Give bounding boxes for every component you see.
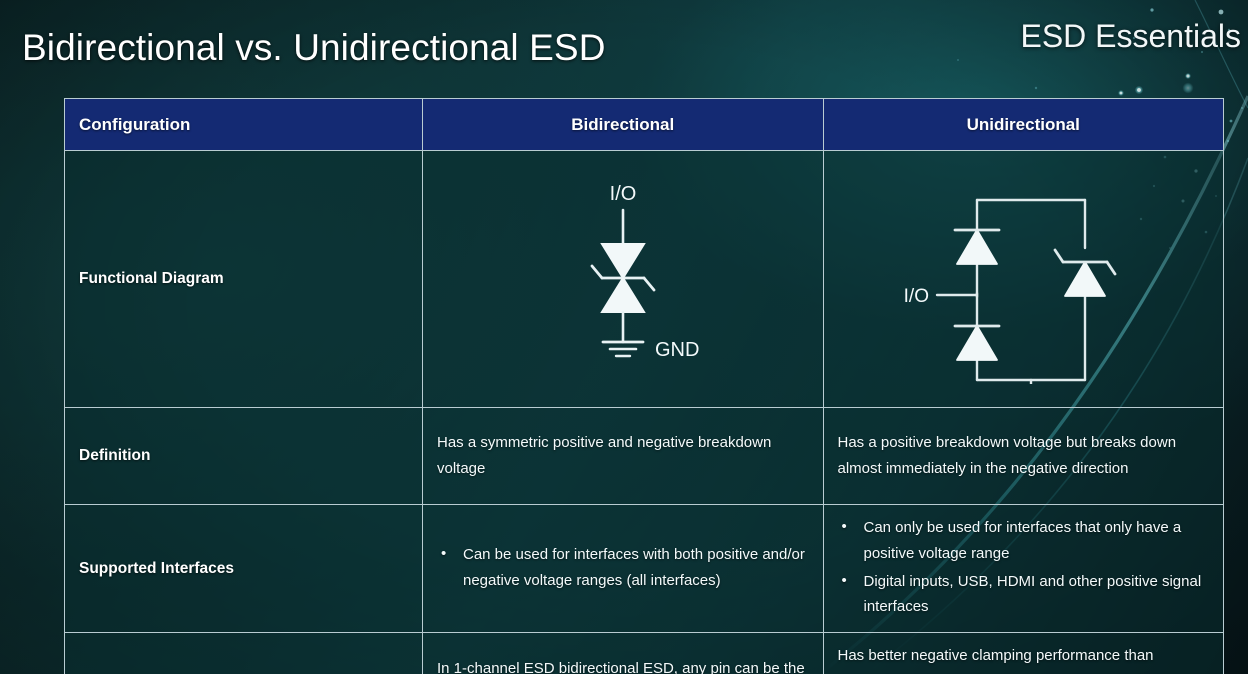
bidirectional-esd-symbol: I/O GND — [503, 174, 743, 384]
supported-interfaces-unidirectional: Can only be used for interfaces that onl… — [823, 505, 1224, 633]
list-item: Digital inputs, USB, HDMI and other posi… — [838, 569, 1212, 621]
page-title: Bidirectional vs. Unidirectional ESD — [22, 27, 606, 69]
bidirectional-gnd-label: GND — [655, 339, 699, 361]
comparison-table: Configuration Bidirectional Unidirection… — [64, 98, 1224, 674]
bullet-list-unidirectional: Can only be used for interfaces that onl… — [838, 515, 1212, 620]
bidirectional-diagram-cell: I/O GND — [423, 151, 824, 408]
list-item: Can be used for interfaces with both pos… — [437, 542, 811, 594]
list-item: Can only be used for interfaces that onl… — [838, 515, 1212, 567]
table-row-functional-diagram: Functional Diagram — [65, 151, 1224, 408]
row-label-definition: Definition — [65, 408, 423, 505]
unidirectional-esd-symbol: I/O GND — [873, 174, 1173, 384]
table-header-row: Configuration Bidirectional Unidirection… — [65, 99, 1224, 151]
column-header-unidirectional: Unidirectional — [823, 99, 1224, 151]
table-row-definition: Definition Has a symmetric positive and … — [65, 408, 1224, 505]
table-row-benefits: Benefits In 1-channel ESD bidirectional … — [65, 633, 1224, 674]
bidirectional-io-label: I/O — [609, 183, 636, 205]
row-label-functional-diagram: Functional Diagram — [65, 151, 423, 408]
table-row-supported-interfaces: Supported Interfaces Can be used for int… — [65, 505, 1224, 633]
unidirectional-diagram-cell: I/O GND — [823, 151, 1224, 408]
definition-bidirectional: Has a symmetric positive and negative br… — [423, 408, 824, 505]
column-header-configuration: Configuration — [65, 99, 423, 151]
unidirectional-gnd-label: GND — [1055, 382, 1097, 384]
brand-tag: ESD Essentials — [1020, 18, 1241, 55]
column-header-bidirectional: Bidirectional — [423, 99, 824, 151]
table-body: Functional Diagram — [65, 151, 1224, 674]
row-label-supported-interfaces: Supported Interfaces — [65, 505, 423, 633]
unidirectional-io-label: I/O — [904, 286, 929, 307]
bullet-list-bidirectional: Can be used for interfaces with both pos… — [437, 542, 811, 594]
table-header: Configuration Bidirectional Unidirection… — [65, 99, 1224, 151]
comparison-table-wrapper: Configuration Bidirectional Unidirection… — [64, 98, 1224, 664]
benefits-unidirectional: Has better negative clamping performance… — [823, 633, 1224, 674]
definition-unidirectional: Has a positive breakdown voltage but bre… — [823, 408, 1224, 505]
benefits-bidirectional: In 1-channel ESD bidirectional ESD, any … — [423, 633, 824, 674]
row-label-benefits: Benefits — [65, 633, 423, 674]
supported-interfaces-bidirectional: Can be used for interfaces with both pos… — [423, 505, 824, 633]
